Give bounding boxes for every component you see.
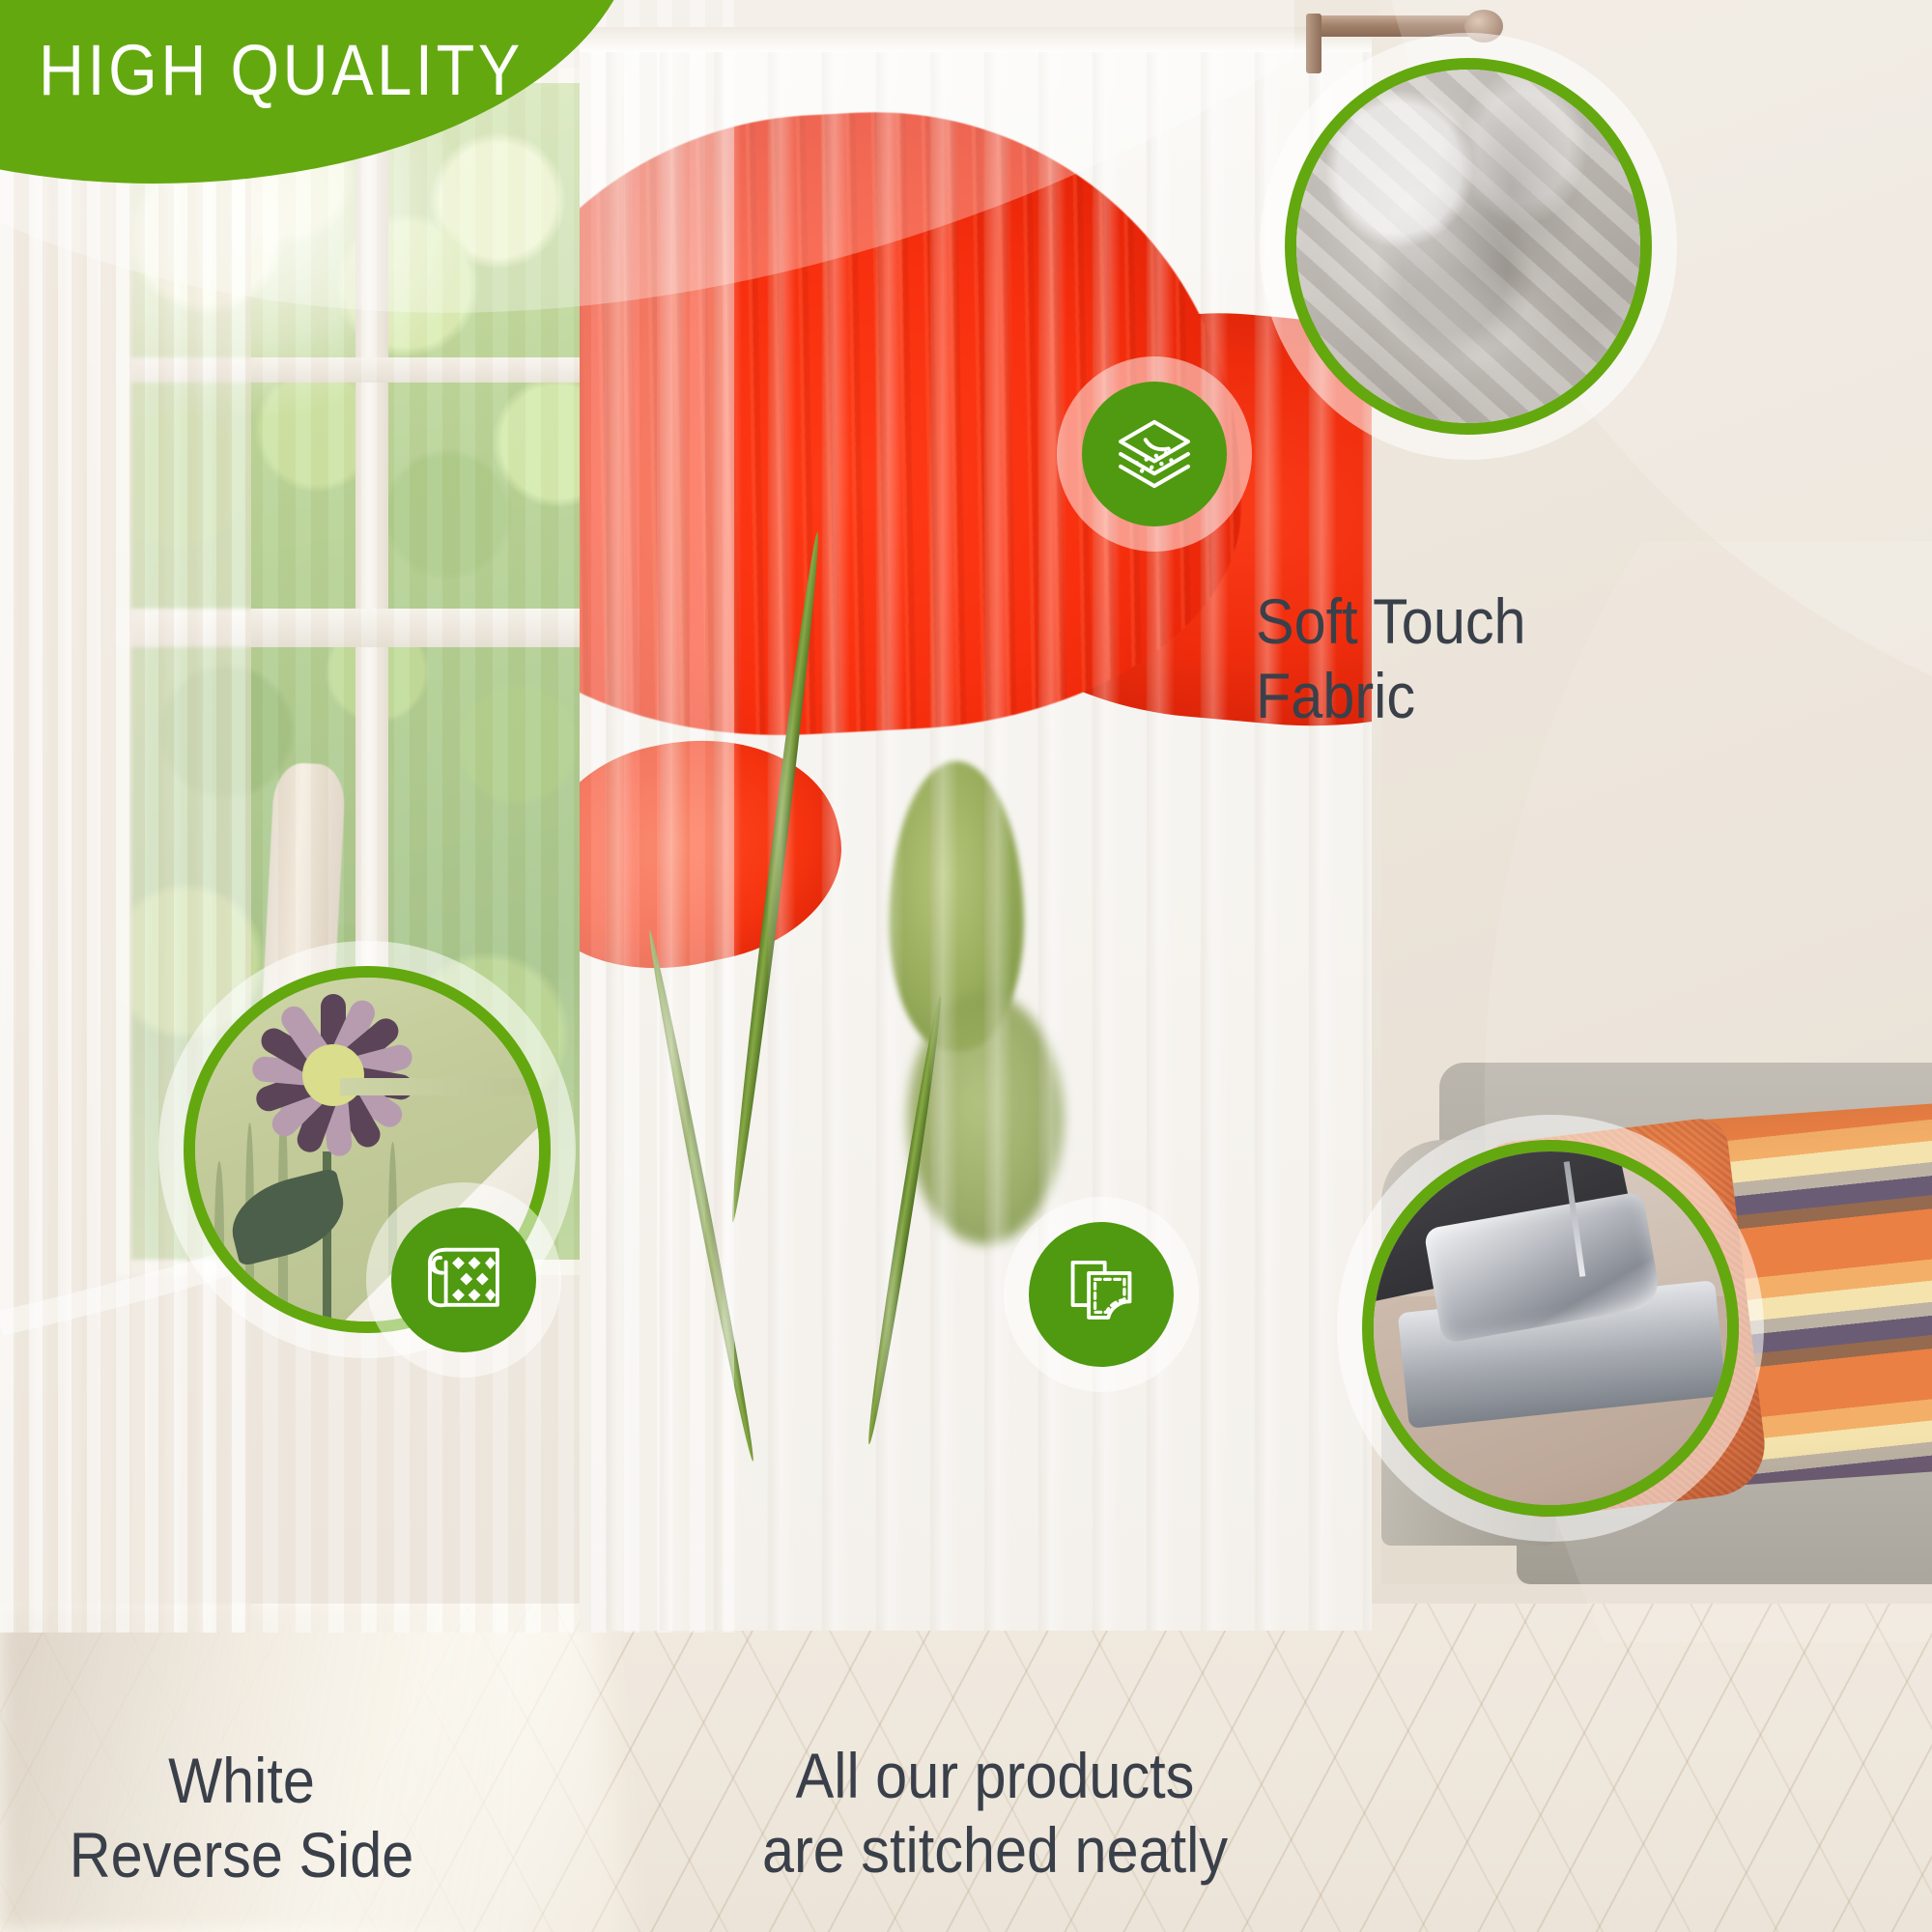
curtain-rod: [1306, 15, 1490, 37]
poppy-stem-right: [863, 995, 946, 1445]
poppy-flower-lower: [580, 712, 860, 994]
caption-line-1: All our products: [673, 1739, 1317, 1813]
callout-soft-touch-fabric: [1285, 58, 1652, 435]
caption-white-reverse-side: White Reverse Side: [24, 1744, 459, 1891]
callout-stitched-neatly: [1362, 1140, 1739, 1517]
curtain-rod-finial: [1464, 10, 1503, 43]
caption-soft-touch-fabric: Soft Touch Fabric: [1256, 584, 1526, 732]
fabric-roll-icon: [391, 1207, 536, 1352]
high-quality-label: HIGH QUALITY: [39, 29, 524, 111]
poppy-stem-left: [644, 929, 759, 1463]
product-feature-image: HIGH QUALITY Soft Touch Fabric White Rev…: [0, 0, 1932, 1932]
caption-line-1: White: [24, 1744, 459, 1818]
stitched-panels-icon: [1029, 1222, 1174, 1367]
caption-line-2: Reverse Side: [24, 1818, 459, 1892]
callout-photo-sewing: [1362, 1140, 1739, 1517]
daisy-leaf: [223, 1168, 354, 1267]
caption-line-2: are stitched neatly: [673, 1813, 1317, 1888]
caption-stitched-neatly: All our products are stitched neatly: [673, 1739, 1317, 1887]
sheer-curtain-left: [0, 0, 251, 1633]
sewing-machine-photo: [1374, 1151, 1727, 1505]
curtain-fold-edge: [340, 1078, 551, 1095]
callout-photo-fabric: [1285, 58, 1652, 435]
fabric-layers-icon: [1082, 382, 1227, 526]
curtain-header-tape: [580, 27, 1372, 52]
daisy-center: [302, 1044, 364, 1106]
caption-line-2: Fabric: [1256, 659, 1526, 733]
daisy-flower: [241, 983, 425, 1167]
fabric-fold-shading: [1296, 70, 1640, 423]
caption-line-1: Soft Touch: [1256, 584, 1526, 659]
poppy-curtain-panel: [580, 27, 1372, 1631]
